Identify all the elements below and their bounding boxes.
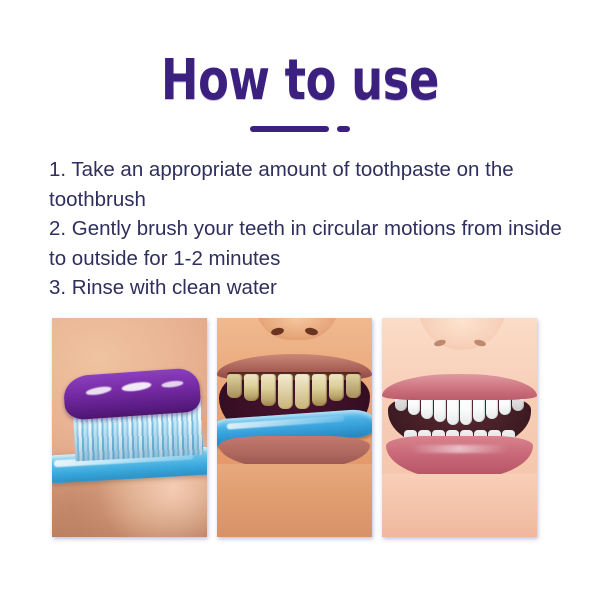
photo1-paste-highlight-c (161, 380, 184, 389)
tooth (346, 374, 361, 398)
how-to-use-card: How to use 1. Take an appropriate amount… (0, 0, 600, 600)
instruction-step-1: 1. Take an appropriate amount of toothpa… (49, 155, 574, 214)
photo2-stained-teeth (227, 374, 361, 410)
tooth (261, 374, 276, 406)
photo1-paste-highlight-a (85, 385, 112, 396)
title-divider (0, 126, 600, 132)
photo3-chin (382, 474, 537, 537)
instruction-list: 1. Take an appropriate amount of toothpa… (49, 155, 574, 303)
photo2-chin (217, 464, 372, 537)
instruction-step-3: 3. Rinse with clean water (49, 273, 574, 303)
photo1-paste-highlight-b (121, 381, 152, 393)
photo-toothbrush-with-purple-toothpaste (52, 318, 207, 537)
instruction-step-2: 2. Gently brush your teeth in circular m… (49, 214, 574, 273)
page-title: How to use (60, 52, 540, 110)
tooth (227, 374, 242, 398)
tooth (312, 374, 327, 406)
tooth (278, 374, 293, 409)
photo-gallery (52, 318, 553, 537)
tooth (329, 374, 344, 401)
divider-long-bar (250, 126, 329, 132)
tooth (295, 374, 310, 409)
photo-white-smile-result (382, 318, 537, 537)
photo-brushing-stained-teeth (217, 318, 372, 537)
title-block: How to use (0, 52, 600, 110)
tooth (244, 374, 259, 401)
divider-short-dash (337, 126, 350, 132)
